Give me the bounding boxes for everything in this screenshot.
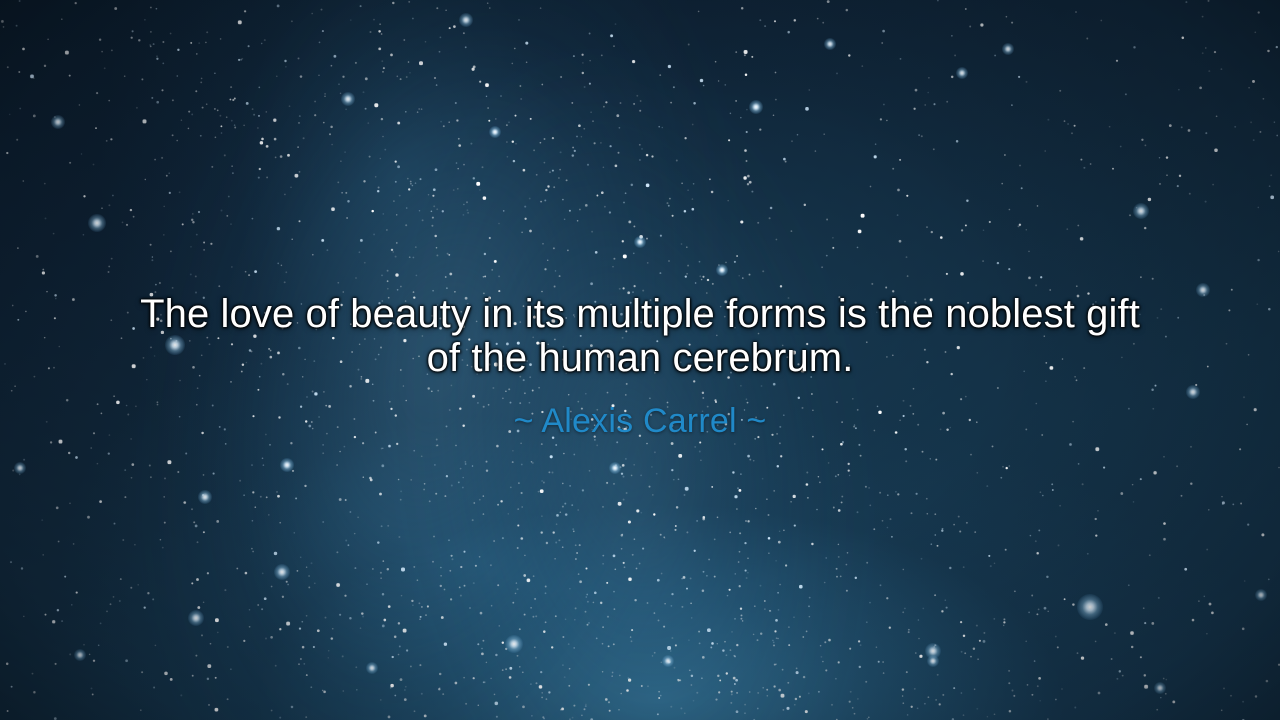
quote-text-layer: The love of beauty in its multiple forms… [0,0,1280,720]
quote-card: The love of beauty in its multiple forms… [0,0,1280,720]
quote-attribution: ~ Alexis Carrel ~ [514,402,767,440]
quote-text: The love of beauty in its multiple forms… [125,292,1155,380]
